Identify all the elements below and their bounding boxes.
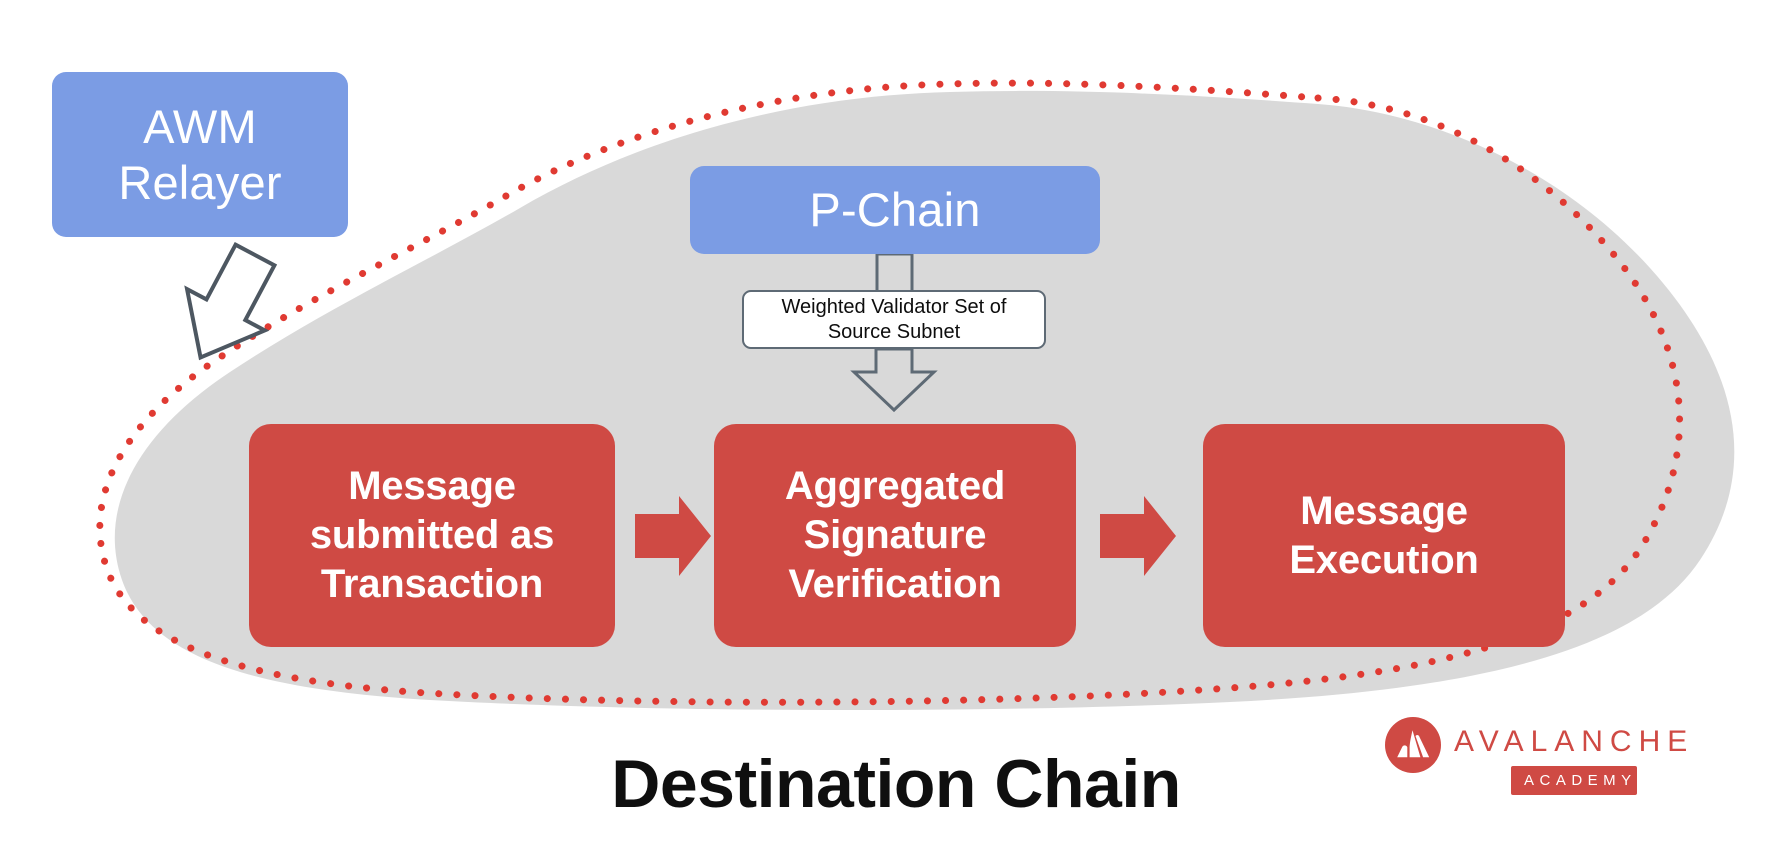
avalanche-academy-logo: AVALANCHE ACADEMY xyxy=(1385,716,1665,790)
node-aggregated-signature-verification[interactable]: Aggregated Signature Verification xyxy=(714,424,1076,647)
avalanche-mountain-icon xyxy=(1385,717,1441,773)
node-message-execution[interactable]: Message Execution xyxy=(1203,424,1565,647)
node-step-2-label: Aggregated Signature Verification xyxy=(785,462,1005,608)
academy-badge: ACADEMY xyxy=(1511,766,1637,795)
avalanche-wordmark-group: AVALANCHE ACADEMY xyxy=(1454,716,1694,795)
node-message-submitted-as-transaction[interactable]: Message submitted as Transaction xyxy=(249,424,615,647)
node-step-3-label: Message Execution xyxy=(1289,487,1478,585)
node-awm-relayer-label: AWM Relayer xyxy=(118,99,281,210)
diagram-canvas: AWM Relayer P-Chain Weighted Validator S… xyxy=(0,0,1792,848)
node-weighted-validator-set-label: Weighted Validator Set of Source Subnet xyxy=(782,295,1007,345)
pchain-to-validator-arrow xyxy=(877,254,912,292)
avalanche-wordmark: AVALANCHE xyxy=(1454,716,1694,757)
node-awm-relayer[interactable]: AWM Relayer xyxy=(52,72,348,237)
node-step-1-label: Message submitted as Transaction xyxy=(310,462,554,608)
node-weighted-validator-set[interactable]: Weighted Validator Set of Source Subnet xyxy=(742,290,1046,349)
avalanche-logo-icon xyxy=(1385,717,1441,773)
diagram-caption-text: Destination Chain xyxy=(611,745,1181,823)
node-p-chain[interactable]: P-Chain xyxy=(690,166,1100,254)
node-p-chain-label: P-Chain xyxy=(809,182,980,237)
